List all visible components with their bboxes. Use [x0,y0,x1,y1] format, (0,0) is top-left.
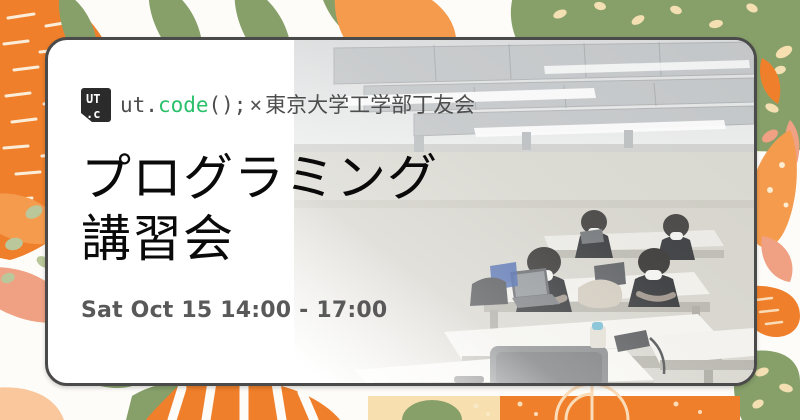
event-datetime: Sat Oct 15 14:00 - 17:00 [81,298,757,323]
event-card: UT .c ut.code();×東京大学工学部丁友会 プログラミング 講習会 … [45,37,757,386]
headline-line-1: プログラミング [81,149,438,207]
card-content: UT .c ut.code();×東京大学工学部丁友会 プログラミング 講習会 … [48,40,757,386]
page-title: プログラミング 講習会 [81,148,511,270]
svg-text:.c: .c [86,107,100,121]
brand-highlight: code [158,93,209,117]
svg-text:UT: UT [86,92,100,106]
brand-name: ut.code();×東京大学工学部丁友会 [120,95,475,116]
brand-suffix: (); [209,93,247,117]
separator-cross: × [246,93,265,117]
partner-name: 東京大学工学部丁友会 [265,93,475,117]
brand-row: UT .c ut.code();×東京大学工学部丁友会 [81,88,757,122]
poster-canvas: UT .c ut.code();×東京大学工学部丁友会 プログラミング 講習会 … [0,0,800,420]
utcode-logo-icon: UT .c [81,88,111,122]
headline-line-2: 講習会 [81,209,511,270]
brand-prefix: ut. [120,93,158,117]
